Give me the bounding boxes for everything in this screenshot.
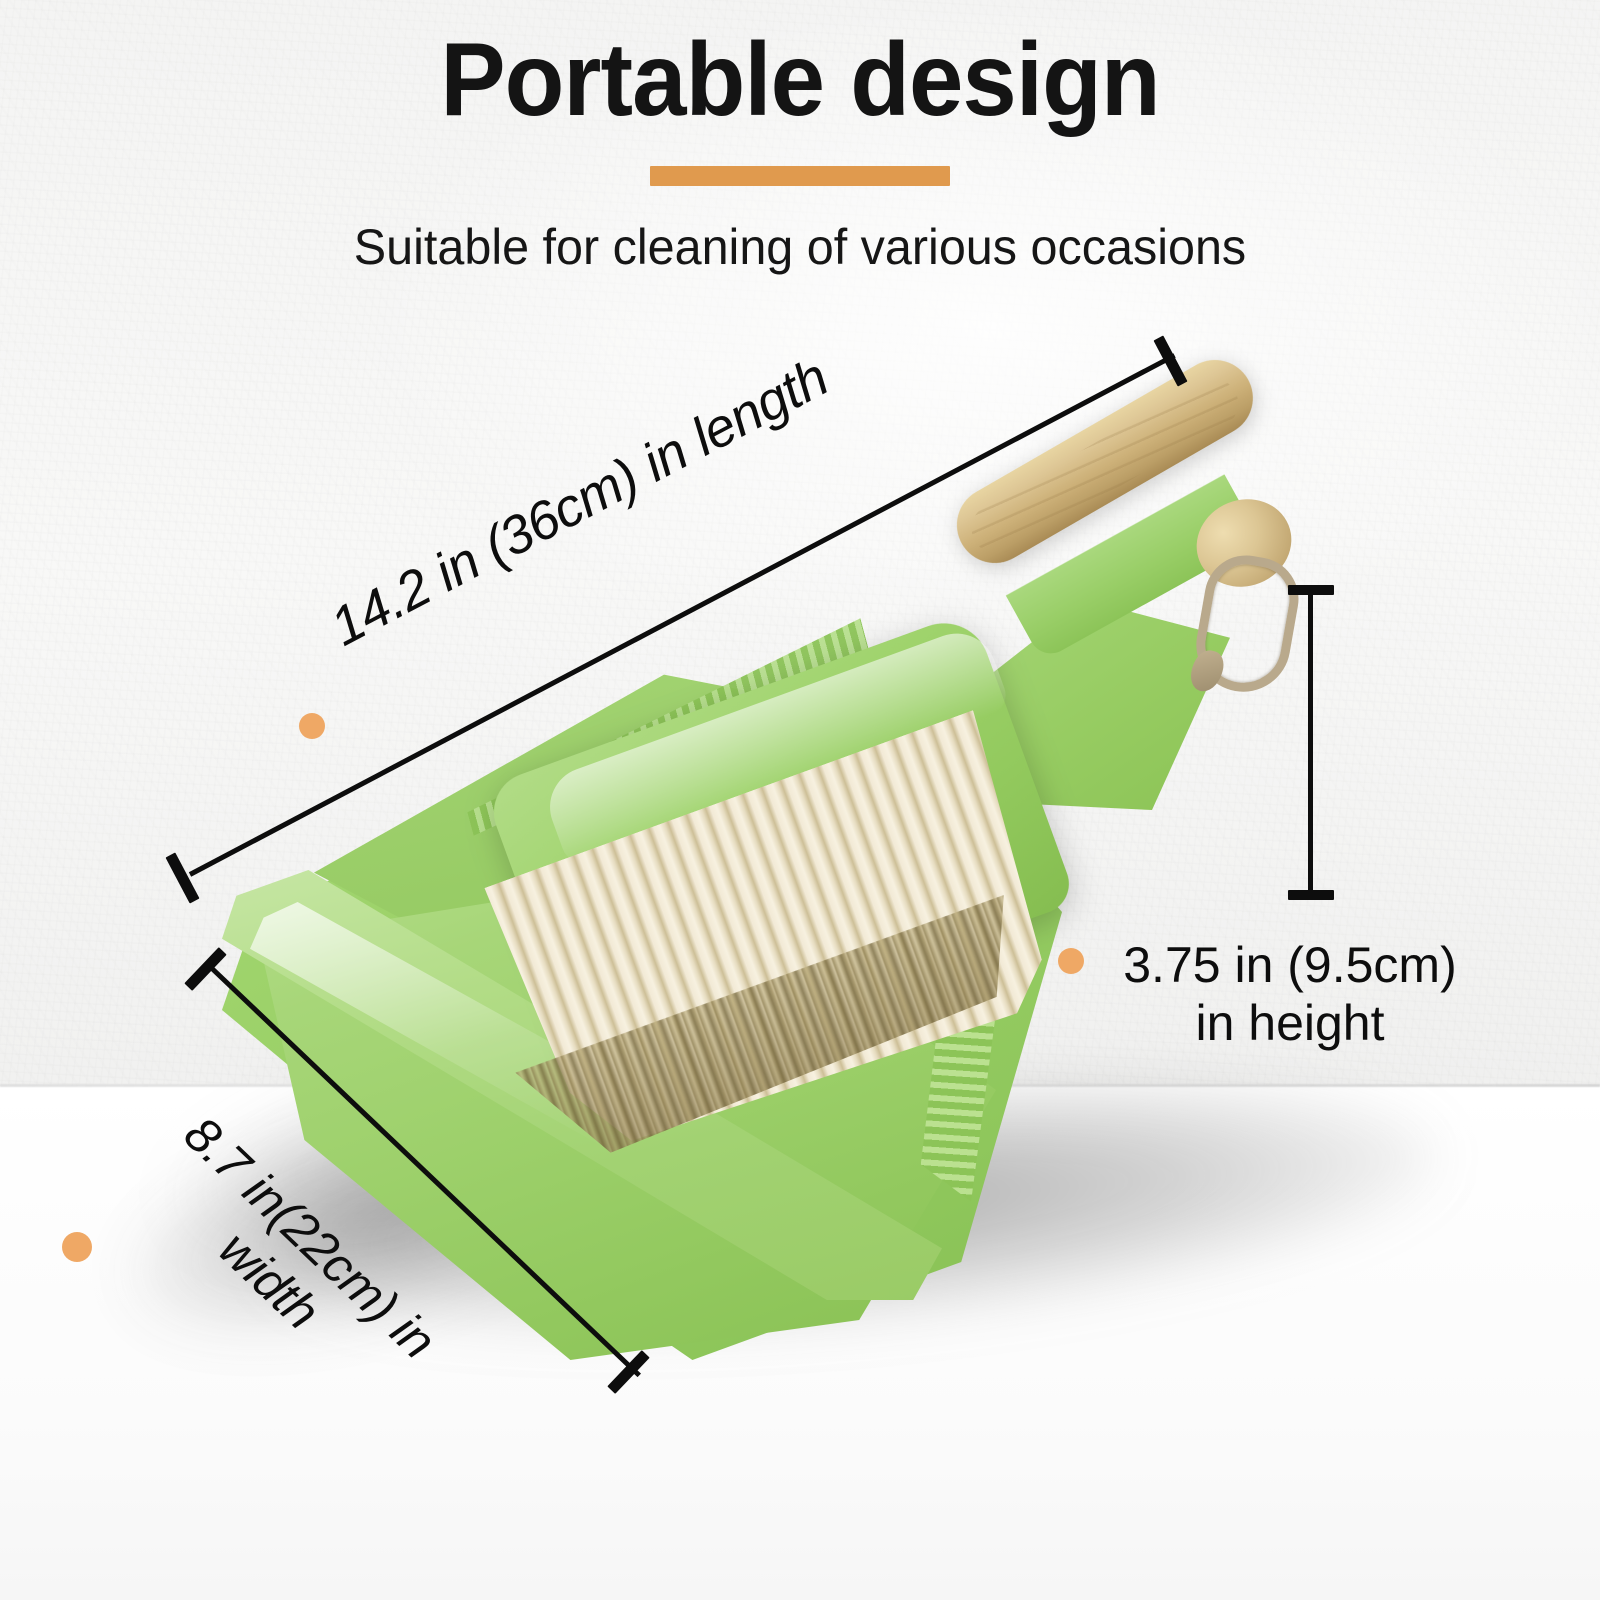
product-photo bbox=[0, 0, 1600, 1600]
height-tick-bottom bbox=[1288, 890, 1334, 900]
length-bullet-dot bbox=[299, 713, 325, 739]
height-label-line-2: in height bbox=[1090, 994, 1490, 1052]
height-dimension-line bbox=[1308, 590, 1313, 896]
height-tick-top bbox=[1288, 585, 1334, 595]
height-label-line-1: 3.75 in (9.5cm) bbox=[1090, 936, 1490, 994]
height-bullet-dot bbox=[1058, 948, 1084, 974]
decorative-bullet-dot bbox=[62, 1232, 92, 1262]
infographic-canvas: Portable design Suitable for cleaning of… bbox=[0, 0, 1600, 1600]
height-dimension-label: 3.75 in (9.5cm) in height bbox=[1090, 936, 1490, 1052]
